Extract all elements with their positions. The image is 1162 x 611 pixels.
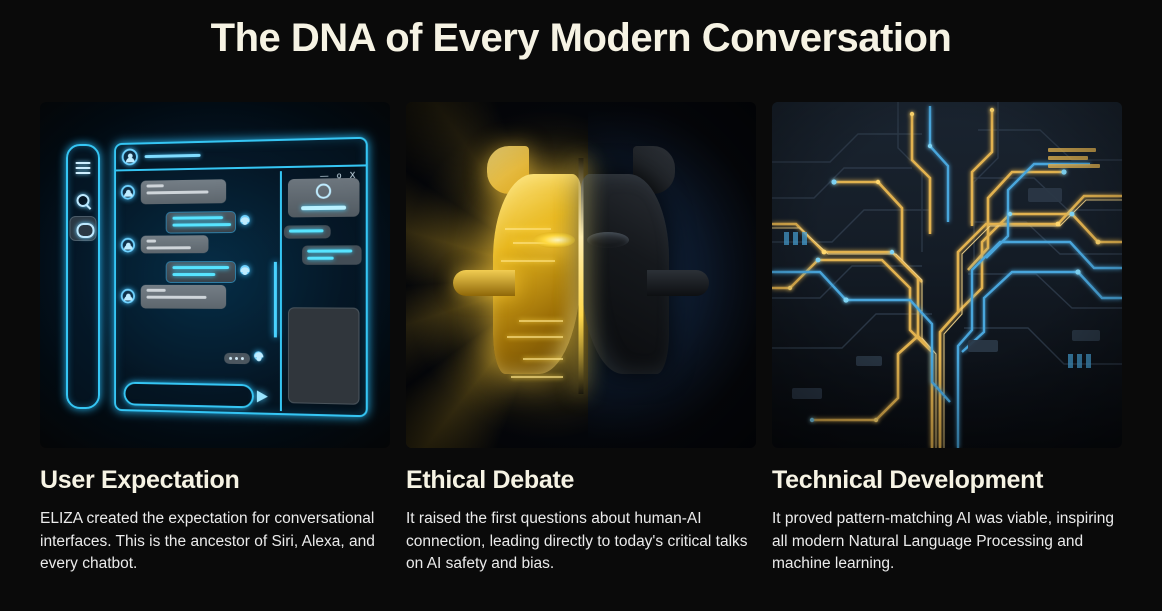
slide-root: The DNA of Every Modern Conversation — o… [0, 0, 1162, 611]
avatar-icon [121, 185, 135, 200]
message-bubble [166, 211, 236, 234]
message-bubble [141, 285, 226, 309]
page-title: The DNA of Every Modern Conversation [0, 16, 1162, 61]
search-icon [77, 194, 90, 207]
typing-indicator-icon [224, 353, 250, 364]
message-bubble [141, 235, 209, 253]
profile-name-placeholder [301, 206, 346, 211]
avatar-icon [240, 265, 250, 275]
vignette-overlay [772, 102, 1122, 448]
chat-bubble-icon [70, 216, 97, 241]
avatar-icon [240, 215, 250, 225]
vignette-overlay [406, 102, 756, 448]
avatar-icon [121, 289, 135, 304]
avatar-icon [254, 351, 263, 360]
chat-sidebar [66, 144, 100, 409]
avatar-icon [121, 238, 135, 253]
avatar-icon [316, 183, 331, 198]
scroll-rail [274, 262, 277, 338]
column-user-expectation: User Expectation ELIZA created the expec… [40, 466, 390, 576]
text-column-row: User Expectation ELIZA created the expec… [40, 466, 1124, 576]
list-item [302, 245, 361, 265]
card-image-technical-development [772, 102, 1122, 448]
chat-message-area [116, 168, 274, 417]
column-body-text: It proved pattern-matching AI was viable… [772, 508, 1122, 576]
chat-window-titlebar [116, 139, 366, 172]
column-heading: Ethical Debate [406, 466, 756, 495]
titlebar-placeholder-line [145, 154, 201, 158]
chat-input-field [124, 382, 254, 409]
avatar-icon [122, 148, 138, 165]
list-item [284, 225, 331, 239]
card-image-user-expectation: — o X [40, 102, 390, 448]
card-image-ethical-debate [406, 102, 756, 448]
image-card-row: — o X [40, 102, 1124, 448]
detail-panel [288, 307, 360, 405]
column-technical-development: Technical Development It proved pattern-… [772, 466, 1122, 576]
hamburger-menu-icon [76, 162, 91, 177]
contacts-panel [280, 170, 366, 414]
chat-window: — o X [114, 137, 368, 418]
column-heading: Technical Development [772, 466, 1122, 495]
send-icon [257, 390, 268, 402]
message-bubble [166, 261, 236, 283]
column-body-text: It raised the first questions about huma… [406, 508, 756, 576]
column-body-text: ELIZA created the expectation for conver… [40, 508, 390, 576]
column-heading: User Expectation [40, 466, 390, 495]
profile-card [288, 178, 360, 218]
message-bubble [141, 179, 226, 204]
column-ethical-debate: Ethical Debate It raised the first quest… [406, 466, 756, 576]
